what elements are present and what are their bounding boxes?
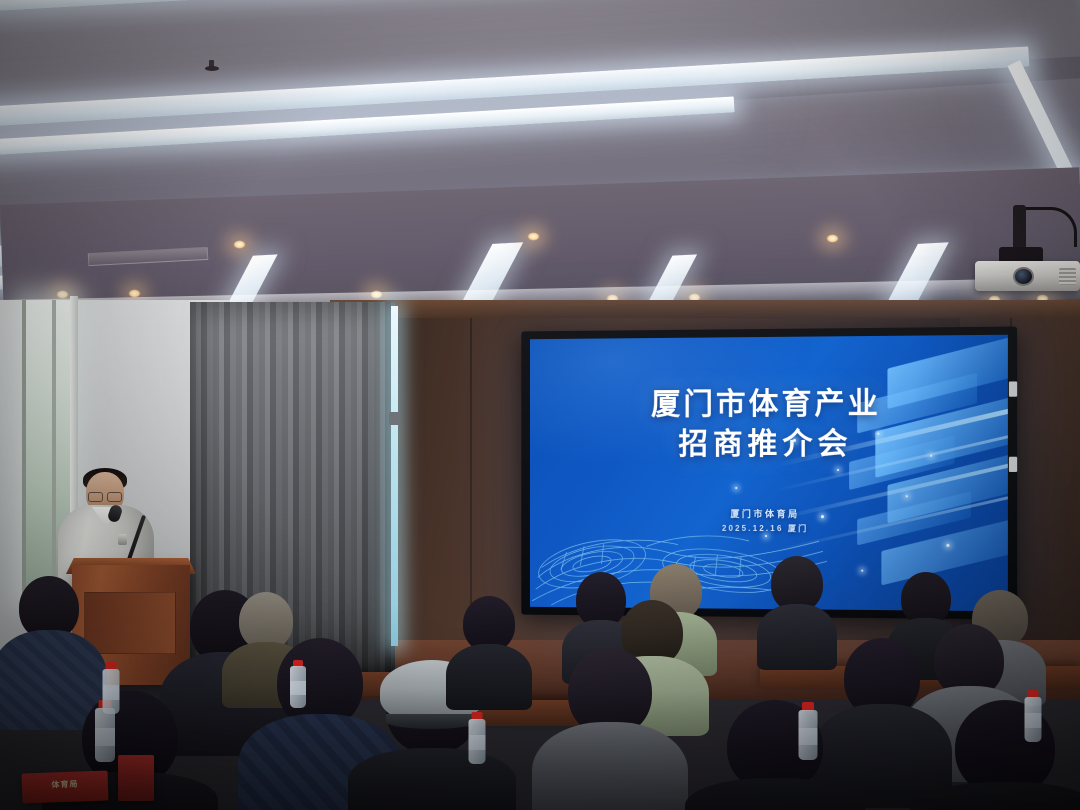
attendee-shoulders [348, 748, 516, 810]
bottle-label [469, 735, 486, 750]
window-mullion-1 [22, 300, 26, 600]
attendee-shoulders [532, 722, 688, 810]
downlight-8 [826, 234, 839, 243]
red-name-placard[interactable]: 体育局 [22, 771, 109, 804]
presenter-glasses-icon [88, 492, 122, 500]
attendee-shoulders [685, 778, 865, 810]
attendee-shoulders [910, 782, 1080, 810]
water-bottle[interactable] [796, 702, 820, 760]
attendee-back-left [452, 596, 526, 706]
water-bottle[interactable] [288, 660, 308, 708]
presentation-title-line1: 厦门市体育产业 [530, 384, 1008, 426]
bottle-label [95, 728, 115, 746]
bottle-label [1025, 713, 1042, 728]
ceiling-projector [975, 205, 1080, 300]
placard-label: 体育局 [22, 778, 108, 792]
water-bottle[interactable] [1022, 690, 1044, 742]
projector-lens-icon [1013, 267, 1034, 286]
sparkle-9 [930, 455, 932, 457]
wall-top-trim [330, 300, 1080, 318]
sparkle-7 [946, 544, 949, 547]
sparkle-10 [735, 487, 737, 489]
sparkle-1 [793, 439, 796, 442]
presenter-badge [118, 534, 127, 545]
attendee-black-coat-fg [700, 700, 850, 810]
vertical-light-strip [391, 306, 398, 646]
attendee-foreground-right [930, 700, 1080, 810]
screen-bezel-clip-1 [1009, 381, 1017, 396]
conference-hall-photo: 厦门市体育产业 招商推介会 厦门市体育局 2025.12.16 厦门 [0, 0, 1080, 810]
presentation-title-line2: 招商推介会 [530, 424, 1008, 465]
attendee-gray-jacket-fg [548, 648, 672, 810]
water-bottle[interactable] [466, 712, 488, 764]
podium-front-panel [84, 592, 176, 654]
projector-mount-arm [1013, 205, 1026, 253]
sparkle-2 [837, 469, 839, 471]
ceiling [0, 0, 1080, 318]
projector-vent [1059, 268, 1076, 285]
sparkle-3 [877, 433, 879, 435]
downlight-5 [527, 232, 540, 241]
presentation-title: 厦门市体育产业 招商推介会 [530, 384, 1008, 466]
projector-cable [1025, 207, 1077, 247]
attendee-shoulders [446, 644, 532, 710]
window-mullion-2 [52, 300, 56, 600]
red-name-placard-secondary[interactable] [118, 755, 154, 801]
attendee-suit-left [760, 556, 834, 666]
bottle-label [799, 728, 818, 745]
sparkle-4 [821, 515, 824, 518]
sparkle-5 [906, 495, 908, 497]
screen-bezel-clip-2 [1009, 457, 1017, 472]
bottle-label [103, 685, 120, 700]
fire-sprinkler-icon [205, 60, 219, 73]
bottle-label [290, 681, 306, 695]
sparkle-6 [765, 535, 767, 537]
downlight-3 [233, 240, 246, 249]
sparkle-8 [861, 570, 863, 572]
light-strip-clip [389, 412, 400, 425]
water-bottle[interactable] [100, 662, 122, 714]
